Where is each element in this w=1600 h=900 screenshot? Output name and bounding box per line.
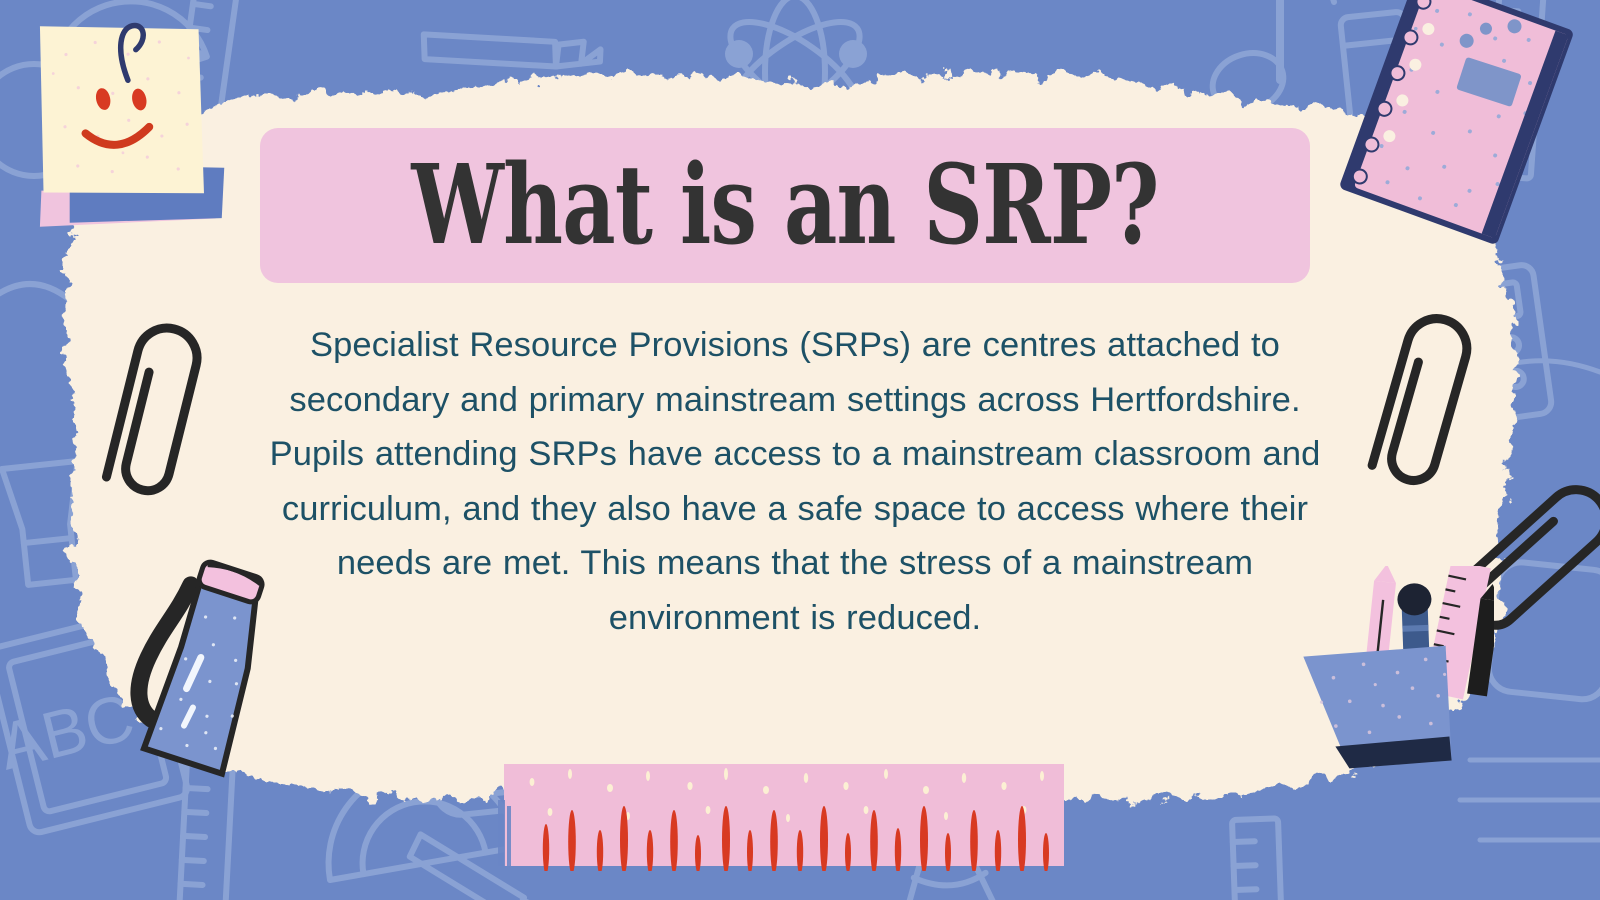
pencil-cup — [1262, 566, 1494, 788]
water-bottle — [112, 552, 327, 800]
title-banner: What is an SRP? — [260, 128, 1310, 283]
notebook — [1330, 0, 1600, 244]
ruler — [498, 756, 1070, 871]
paperclip-left — [72, 300, 232, 520]
body-paragraph: Specialist Resource Provisions (SRPs) ar… — [255, 318, 1335, 645]
page-title: What is an SRP? — [411, 151, 1158, 260]
sticky-note-smiley — [8, 0, 258, 227]
